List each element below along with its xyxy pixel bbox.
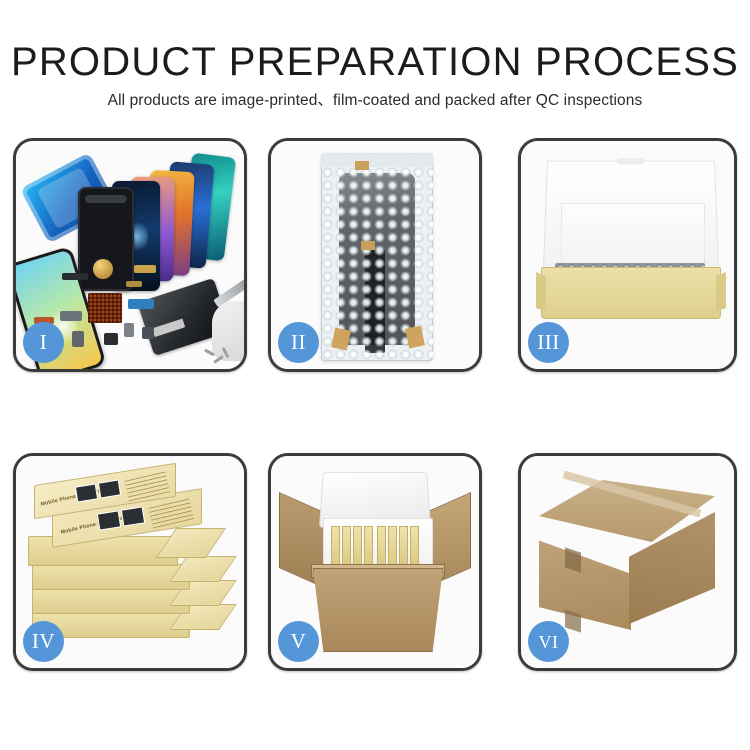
yellow-boxes-inside xyxy=(331,526,423,568)
retail-box-side xyxy=(169,556,237,582)
vibration-motor-part xyxy=(93,259,113,279)
step-panel-4[interactable]: Mobile Phone Spare Parts Mobile Phone Sp… xyxy=(13,453,247,671)
box-flap-tab xyxy=(565,609,581,632)
connector-part xyxy=(126,281,142,287)
box-window-image xyxy=(97,510,121,530)
step-panel-1[interactable]: I xyxy=(13,138,247,372)
step-badge-3: III xyxy=(528,322,569,363)
retail-box xyxy=(28,536,178,566)
box-window-image xyxy=(121,506,145,526)
screws-group xyxy=(204,349,234,367)
step-panel-2[interactable]: II xyxy=(268,138,482,372)
tape-piece xyxy=(361,241,375,250)
process-step-grid: I II xyxy=(0,133,750,685)
sim-tray-part xyxy=(124,323,134,337)
connector-part xyxy=(134,265,156,273)
step-badge-6: VI xyxy=(528,621,569,662)
tape-piece xyxy=(355,161,369,170)
step-badge-1: I xyxy=(23,322,64,363)
box-window-image xyxy=(98,479,121,498)
step-panel-5[interactable]: V xyxy=(268,453,482,671)
box-window-image xyxy=(75,483,98,502)
camera-module-part xyxy=(60,311,82,321)
step-badge-5: V xyxy=(278,621,319,662)
bracket-part xyxy=(142,327,154,339)
battery-connector-part xyxy=(104,333,118,345)
bubble-wrap-bag xyxy=(321,153,433,361)
retail-box xyxy=(32,564,190,590)
ribbon-cable-part xyxy=(128,299,154,309)
step-panel-6[interactable]: VI xyxy=(518,453,737,671)
retail-box xyxy=(32,588,190,614)
speaker-part xyxy=(72,331,84,347)
shipping-box-front-left xyxy=(539,526,631,630)
kraft-box-base xyxy=(541,267,721,319)
step-panel-3[interactable]: III xyxy=(518,138,737,372)
retail-box-side xyxy=(156,528,226,558)
product-preparation-page: PRODUCT PREPARATION PROCESS All products… xyxy=(0,0,750,750)
copper-mesh-part xyxy=(88,293,122,323)
bag-seal-top xyxy=(321,153,433,167)
carton-body xyxy=(313,568,443,652)
page-subtitle: All products are image-printed、film-coat… xyxy=(0,88,750,110)
step-badge-4: IV xyxy=(23,621,64,662)
page-title: PRODUCT PREPARATION PROCESS xyxy=(0,40,750,85)
step-badge-2: II xyxy=(278,322,319,363)
flex-cable-part xyxy=(62,273,88,280)
